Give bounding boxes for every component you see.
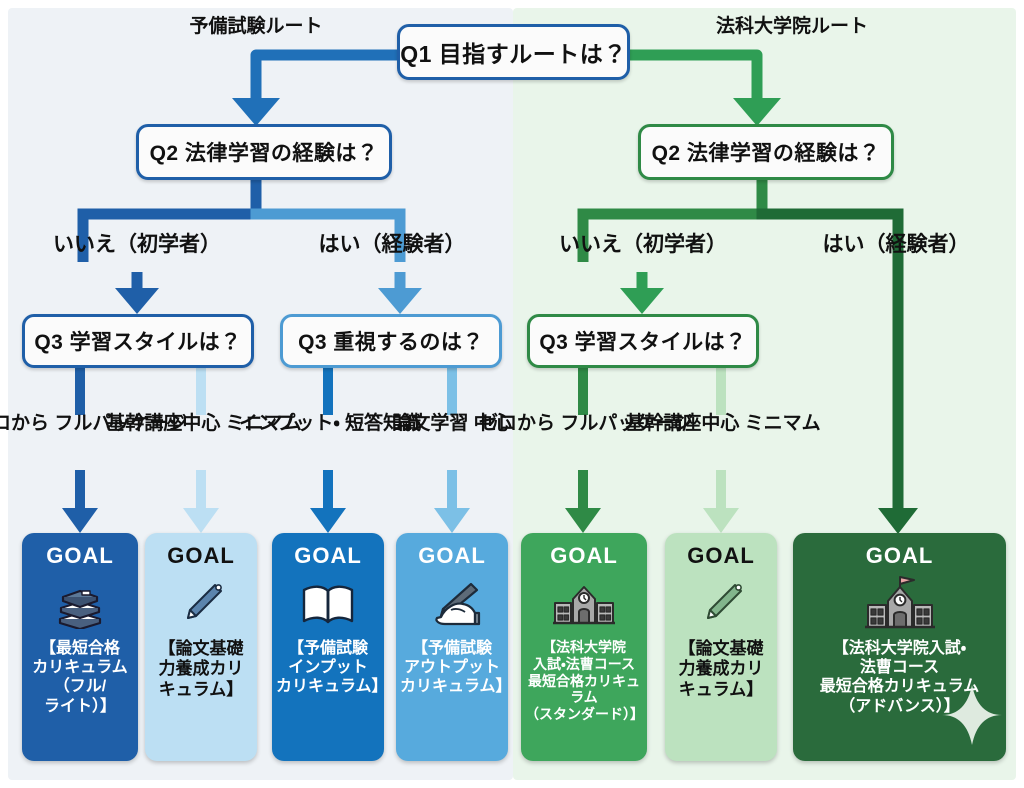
goal-card-4-text: 【予備試験 アウトプット カリキュラム】 xyxy=(396,635,508,705)
school-icon xyxy=(551,573,617,635)
goal-card-6-text: 【論文基礎 力養成カリ キュラム】 xyxy=(675,635,768,708)
question-q2-right-label: Q2 法律学習の経験は？ xyxy=(652,137,881,167)
edge-label-q2-right-yes: はい（経験者） xyxy=(823,233,970,258)
arrow-card6 xyxy=(703,508,739,533)
edge-label-route-right: 法科大学院ルート xyxy=(716,16,868,38)
goal-card-7[interactable]: GOAL xyxy=(793,533,1006,761)
goal-card-3-title: GOAL xyxy=(294,543,362,569)
question-q3-left-a-box[interactable]: Q3 学習スタイルは？ xyxy=(22,314,254,368)
goal-card-7-text: 【法科大学院入試・ 法曹コース 最短合格カリキュラム （アドバンス）】 xyxy=(816,635,984,724)
arrow-card5 xyxy=(565,508,601,533)
writing-hand-icon xyxy=(421,573,483,635)
question-q1-label: Q1 目指すルートは？ xyxy=(400,35,627,69)
edge-label-q2-right-no: いいえ（初学者） xyxy=(559,233,727,258)
question-q2-right-box[interactable]: Q2 法律学習の経験は？ xyxy=(638,124,894,180)
goal-card-5-text: 【法科大学院 入試・法曹コース 最短合格カリキュラム （スタンダード）】 xyxy=(521,635,647,731)
goal-card-3-text: 【予備試験 インプット カリキュラム】 xyxy=(272,635,384,705)
arrow-card3 xyxy=(310,508,346,533)
goal-card-6-title: GOAL xyxy=(687,543,755,569)
arrow-to-q3a xyxy=(115,288,159,314)
arrow-to-q3b xyxy=(378,288,422,314)
open-book-icon xyxy=(298,573,358,635)
question-q3-left-a-label: Q3 学習スタイルは？ xyxy=(34,326,241,356)
arrow-q1-to-q2-right xyxy=(733,98,781,126)
goal-card-5-title: GOAL xyxy=(550,543,618,569)
goal-card-2[interactable]: GOAL 【論文基礎 力養成カリ キュラム】 xyxy=(145,533,257,761)
edge-q1-to-q2-right xyxy=(630,55,757,100)
goal-card-7-title: GOAL xyxy=(866,543,934,569)
arrow-to-q3c xyxy=(620,288,664,314)
goal-card-6[interactable]: GOAL 【論文基礎 力養成カリ キュラム】 xyxy=(665,533,777,761)
flowchart-canvas: Q1 目指すルートは？ Q2 法律学習の経験は？ Q2 法律学習の経験は？ Q3… xyxy=(0,0,1024,788)
question-q3-right-a-box[interactable]: Q3 学習スタイルは？ xyxy=(527,314,759,368)
pen-icon xyxy=(694,573,748,635)
edge-label-q2-left-yes: はい（経験者） xyxy=(319,233,466,258)
edge-label-q2-left-no: いいえ（初学者） xyxy=(53,233,221,258)
edge-label-route-left: 予備試験ルート xyxy=(189,16,322,38)
goal-card-1[interactable]: GOAL 【最短合格 カリキュラム （フル/ ライト）】 xyxy=(22,533,138,761)
question-q3-left-b-box[interactable]: Q3 重視するのは？ xyxy=(280,314,502,368)
question-q3-left-b-label: Q3 重視するのは？ xyxy=(298,326,484,356)
question-q3-right-a-label: Q3 学習スタイルは？ xyxy=(539,326,746,356)
goal-card-1-title: GOAL xyxy=(46,543,114,569)
books-icon xyxy=(52,573,108,635)
arrow-card4 xyxy=(434,508,470,533)
edge-label-branch-6: 基幹講座中心 ミニマム xyxy=(625,413,820,435)
goal-card-1-text: 【最短合格 カリキュラム （フル/ ライト）】 xyxy=(28,635,132,724)
arrow-card7 xyxy=(878,508,918,534)
goal-card-4-title: GOAL xyxy=(418,543,486,569)
question-q2-left-box[interactable]: Q2 法律学習の経験は？ xyxy=(136,124,392,180)
question-q1-box[interactable]: Q1 目指すルートは？ xyxy=(397,24,630,80)
question-q2-left-label: Q2 法律学習の経験は？ xyxy=(150,137,379,167)
school-flag-icon xyxy=(862,573,938,635)
goal-card-4[interactable]: GOAL 【予備試験 アウトプット カリキュラム】 xyxy=(396,533,508,761)
goal-card-2-text: 【論文基礎 力養成カリ キュラム】 xyxy=(155,635,248,708)
goal-card-5[interactable]: GOAL xyxy=(521,533,647,761)
arrow-card2 xyxy=(183,508,219,533)
pen-icon xyxy=(174,573,228,635)
arrow-card1 xyxy=(62,508,98,533)
goal-card-2-title: GOAL xyxy=(167,543,235,569)
goal-card-3[interactable]: GOAL 【予備試験 インプット カリキュラム】 xyxy=(272,533,384,761)
edge-q1-to-q2-left xyxy=(256,55,397,100)
arrow-q1-to-q2-left xyxy=(232,98,280,126)
